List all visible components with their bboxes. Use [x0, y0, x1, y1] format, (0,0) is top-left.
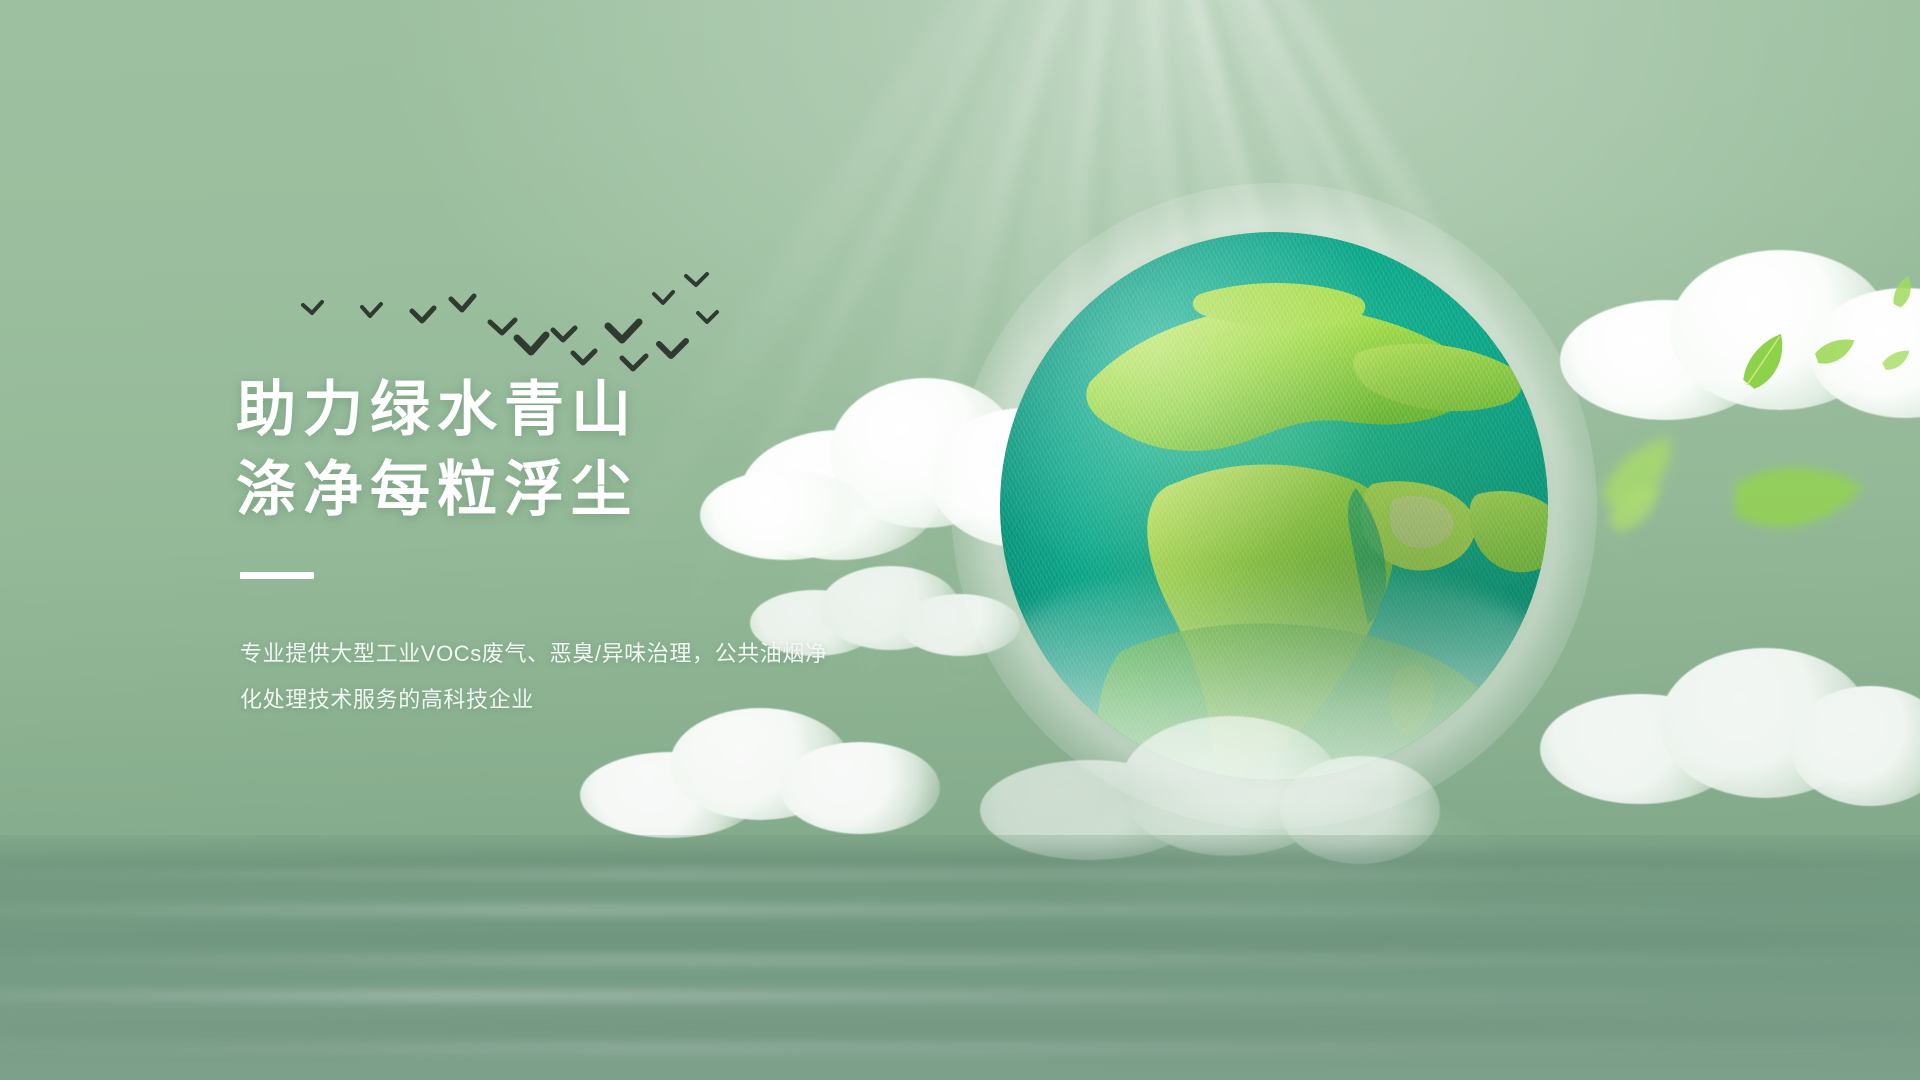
cloud-right-upper — [1560, 240, 1920, 440]
earth-globe — [1000, 232, 1548, 780]
leaf-icon — [1808, 326, 1859, 377]
hero-banner: 助力绿水青山 涤净每粒浮尘 专业提供大型工业VOCs废气、恶臭/异味治理，公共油… — [0, 0, 1920, 1080]
headline-line-2: 涤净每粒浮尘 — [236, 456, 638, 523]
leaf-icon-blurred — [1584, 424, 1688, 528]
subtitle-line-2: 化处理技术服务的高科技企业 — [240, 687, 534, 712]
cloud-right-lower — [1540, 640, 1920, 820]
title-divider — [240, 572, 314, 579]
leaf-icon — [1725, 325, 1801, 401]
subtitle: 专业提供大型工业VOCs废气、恶臭/异味治理，公共油烟净 化处理技术服务的高科技… — [240, 631, 900, 723]
headline-line-1: 助力绿水青山 — [236, 376, 638, 443]
leaf-icon — [1878, 343, 1912, 377]
leaf-icon-blurred — [1601, 477, 1665, 541]
water-surface — [0, 835, 1920, 1080]
globe-bottom-mist — [1000, 561, 1548, 780]
hero-copy: 助力绿水青山 涤净每粒浮尘 专业提供大型工业VOCs废气、恶臭/异味治理，公共油… — [236, 370, 956, 723]
subtitle-line-1: 专业提供大型工业VOCs废气、恶臭/异味治理，公共油烟净 — [240, 641, 828, 666]
leaf-icon — [1880, 271, 1920, 315]
page-title: 助力绿水青山 涤净每粒浮尘 — [236, 370, 956, 530]
leaf-icon-blurred — [1700, 405, 1880, 585]
globe-sphere — [1000, 232, 1548, 780]
